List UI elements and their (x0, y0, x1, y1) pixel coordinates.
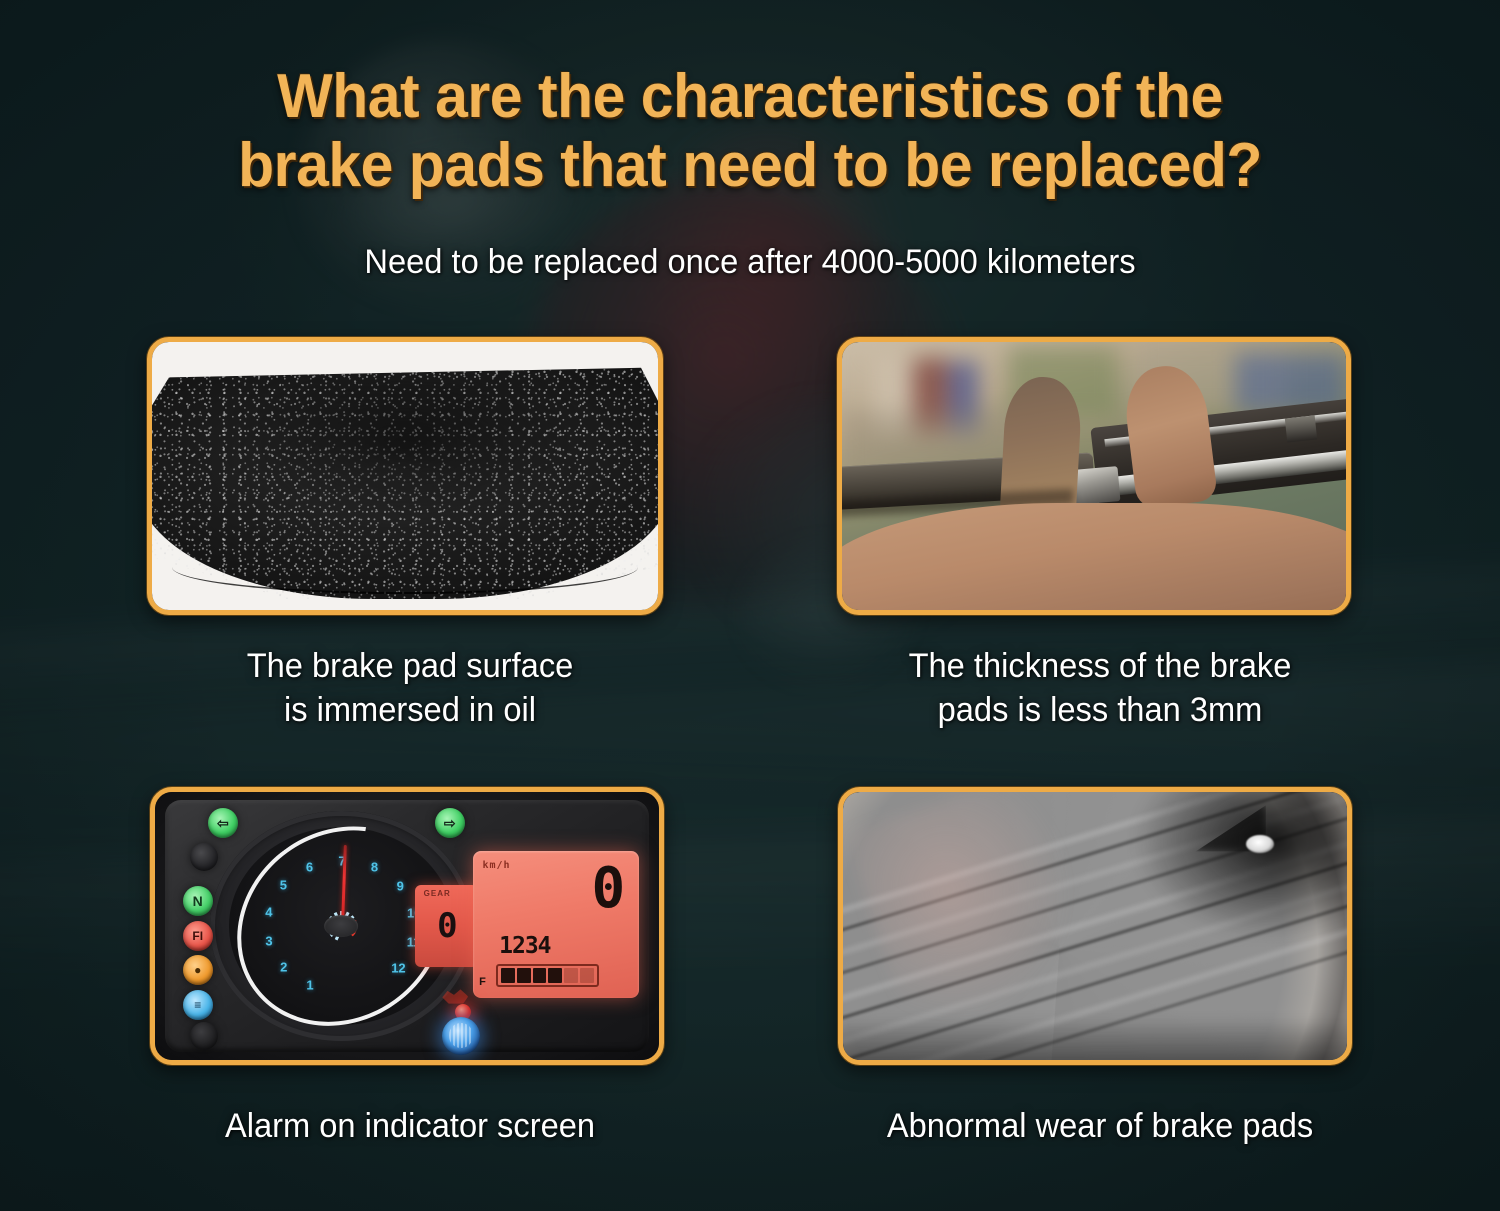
brake-disc-dark-region (1135, 792, 1347, 937)
tachometer-label-4: 4 (265, 904, 272, 919)
photo-panel-disc-wear-image (843, 792, 1347, 1060)
fuel-injection-indicator-icon: FI (183, 921, 213, 951)
tachometer-bezel: 123456789101112 GEAR 0 (210, 811, 472, 1041)
brake-disc-specular-highlight (1246, 835, 1274, 853)
neutral-indicator-icon: N (183, 886, 213, 916)
high-beam-indicator-icon: ≡ (183, 990, 213, 1020)
tachometer-label-12: 12 (391, 961, 405, 976)
tachometer-label-1: 1 (306, 978, 313, 993)
lcd-odometer-value: 1234 (499, 933, 550, 959)
brake-disc-lower-shadow (843, 1017, 1347, 1060)
turn-signal-right-icon: ⇨ (435, 808, 465, 838)
caption-oil-soaked-pad: The brake pad surface is immersed in oil (132, 645, 689, 732)
fuel-segment (580, 968, 594, 982)
photo-panel-oil-soaked-pad (147, 337, 663, 615)
turn-signal-left-icon: ⇦ (208, 808, 238, 838)
tachometer-label-5: 5 (280, 878, 287, 893)
photo-panel-indicator-alarm-image: 123456789101112 GEAR 0 ⇦ N FI ● ≡ (155, 792, 659, 1060)
page-subtitle: Need to be replaced once after 4000-5000… (30, 243, 1470, 282)
fuel-segment (548, 968, 562, 982)
photo-panel-oil-soaked-pad-image (152, 342, 658, 610)
photo-panel-pad-thickness-image (842, 342, 1346, 610)
lcd-fuel-gauge (496, 964, 599, 986)
caption-pad-thickness: The thickness of the brake pads is less … (822, 645, 1379, 732)
gear-display-label: GEAR (424, 889, 451, 898)
lcd-unit-label: km/h (482, 860, 510, 871)
fuel-segment (564, 968, 578, 982)
gear-position-display: GEAR 0 (415, 885, 478, 968)
caption-disc-wear: Abnormal wear of brake pads (822, 1105, 1379, 1149)
page-title: What are the characteristics of the brak… (38, 62, 1463, 201)
lcd-display: km/h 0 1234 F (473, 851, 639, 998)
oil-pressure-indicator-icon: ● (183, 955, 213, 985)
high-beam-lamp-icon (442, 1017, 480, 1055)
new-brake-pad-notch (1284, 416, 1317, 443)
tachometer-label-3: 3 (265, 933, 272, 948)
photo-panel-disc-wear (838, 787, 1352, 1065)
brake-pad-friction-surface (152, 358, 658, 599)
tachometer-label-2: 2 (280, 960, 287, 975)
tachometer-label-6: 6 (306, 859, 313, 874)
instrument-cluster: 123456789101112 GEAR 0 ⇦ N FI ● ≡ (155, 792, 659, 1060)
tachometer-label-9: 9 (397, 878, 404, 893)
brake-disc (843, 792, 1347, 1060)
lcd-speed-value: 0 (591, 861, 622, 917)
photo-panel-pad-thickness (837, 337, 1351, 615)
caption-indicator-alarm: Alarm on indicator screen (132, 1105, 689, 1149)
tachometer-label-8: 8 (371, 860, 378, 875)
spare-lamp-top-icon (190, 843, 218, 871)
hand-palm (842, 503, 1346, 610)
fuel-segment (501, 968, 515, 982)
tachometer-needle-hub (325, 915, 359, 937)
fuel-segment (517, 968, 531, 982)
brake-pad-oil-stain (233, 377, 576, 522)
photo-panel-indicator-alarm: 123456789101112 GEAR 0 ⇦ N FI ● ≡ (150, 787, 664, 1065)
fuel-segment (533, 968, 547, 982)
infographic-root: What are the characteristics of the brak… (0, 0, 1500, 1211)
fuel-gauge-icon: F (479, 976, 486, 988)
brake-pads-contact-point (1072, 466, 1120, 505)
gear-display-value: 0 (437, 906, 455, 946)
